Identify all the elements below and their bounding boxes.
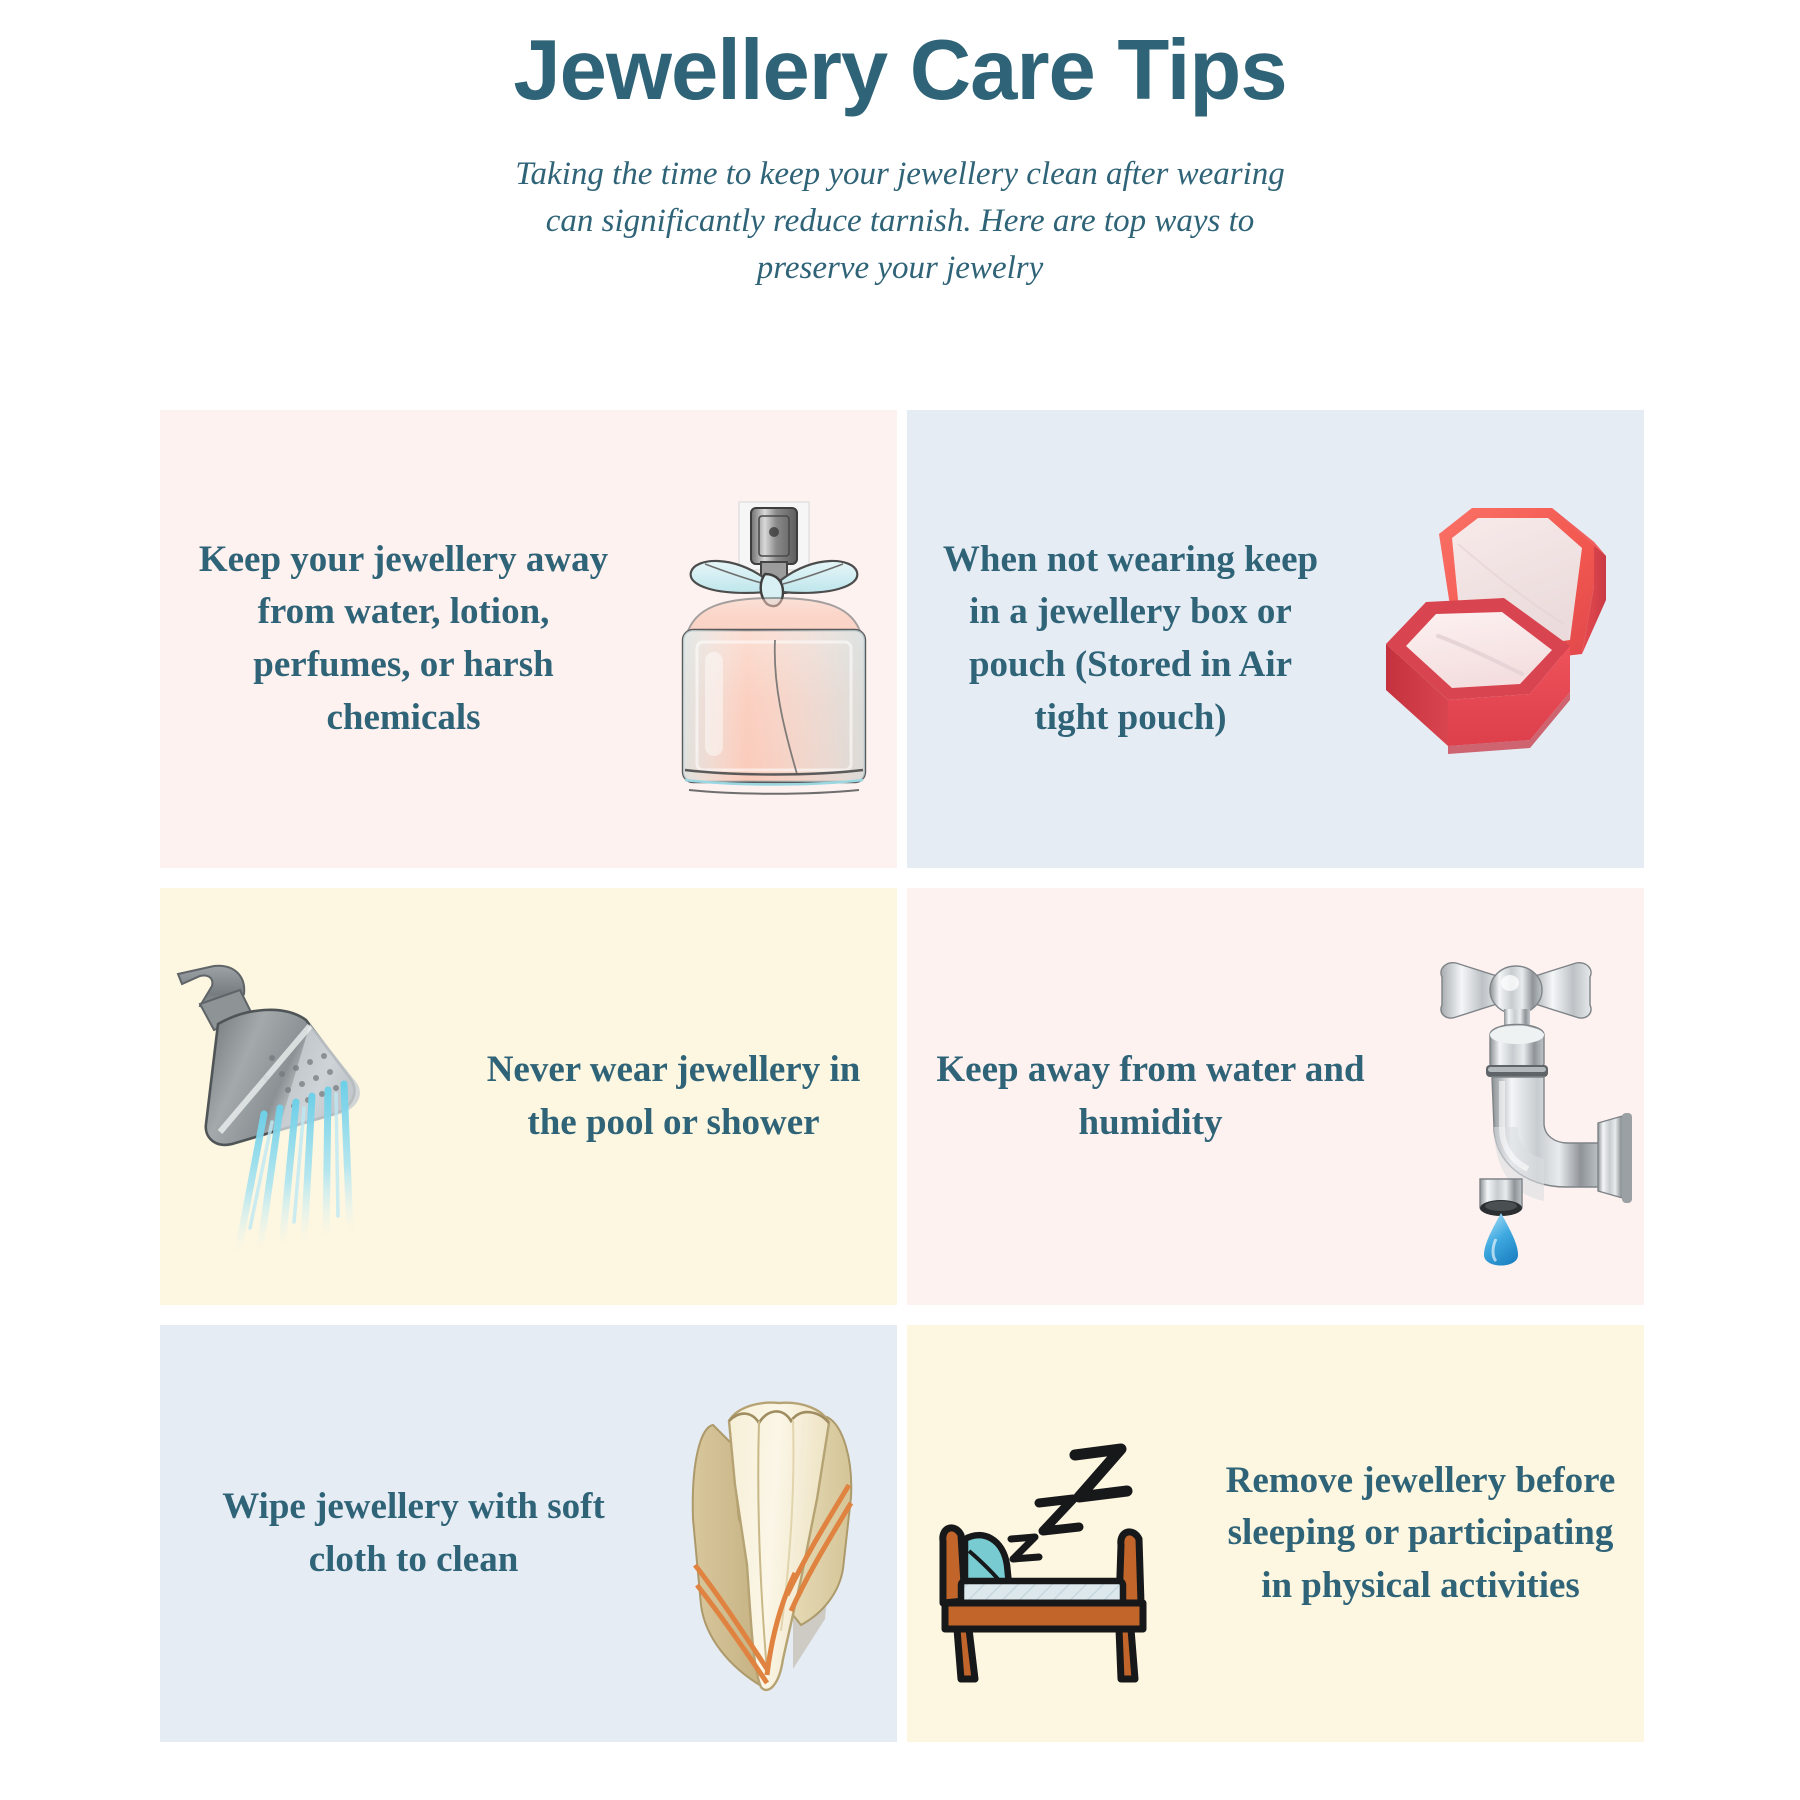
ring-box-icon <box>1354 494 1644 784</box>
bed-sleeping-icon <box>907 1389 1197 1679</box>
tip-card-chemicals[interactable]: Keep your jewellery away from water, lot… <box>160 410 897 868</box>
tip-card-chemicals-label: Keep your jewellery away from water, lot… <box>160 534 647 744</box>
faucet-icon <box>1394 947 1644 1247</box>
soft-cloth-icon <box>667 1369 897 1699</box>
infographic-page: Jewellery Care Tips Taking the time to k… <box>0 0 1800 1800</box>
tip-card-sleep-label: Remove jewellery before sleeping or part… <box>1197 1455 1644 1613</box>
tip-card-wipe-label: Wipe jewellery with soft cloth to clean <box>160 1481 667 1586</box>
page-title: Jewellery Care Tips <box>0 26 1800 115</box>
tip-card-storage[interactable]: When not wearing keep in a jewellery box… <box>907 410 1644 868</box>
tips-grid: Keep your jewellery away from water, lot… <box>160 410 1640 1742</box>
tip-card-shower-label: Never wear jewellery in the pool or show… <box>450 1044 897 1149</box>
header: Jewellery Care Tips Taking the time to k… <box>0 0 1800 292</box>
perfume-bottle-icon <box>647 474 897 804</box>
tip-card-humidity[interactable]: Keep away from water and humidity <box>907 888 1644 1305</box>
tip-card-wipe[interactable]: Wipe jewellery with soft cloth to clean <box>160 1325 897 1742</box>
tip-card-sleep[interactable]: Remove jewellery before sleeping or part… <box>907 1325 1644 1742</box>
tip-card-shower[interactable]: Never wear jewellery in the pool or show… <box>160 888 897 1305</box>
shower-head-icon <box>160 932 450 1262</box>
tip-card-storage-label: When not wearing keep in a jewellery box… <box>907 534 1354 744</box>
page-subtitle: Taking the time to keep your jewellery c… <box>500 151 1300 292</box>
tip-card-humidity-label: Keep away from water and humidity <box>907 1044 1394 1149</box>
